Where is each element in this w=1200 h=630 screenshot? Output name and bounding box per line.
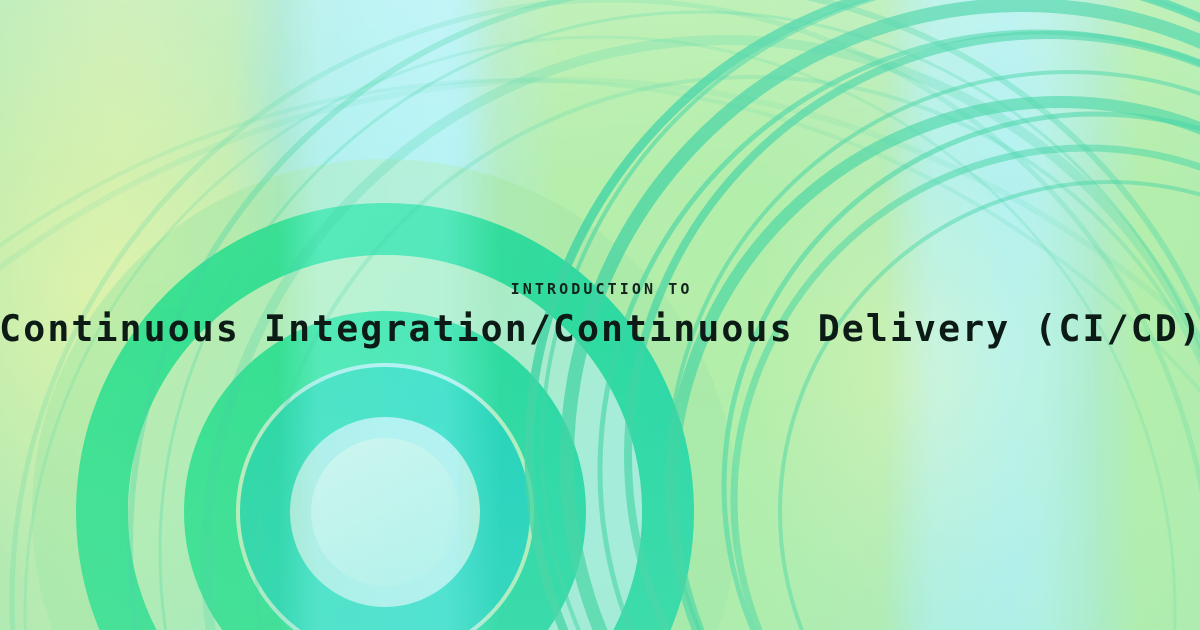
title-text-block: INTRODUCTION TO Continuous Integration/C… [0, 0, 1200, 630]
eyebrow-text: INTRODUCTION TO [507, 282, 692, 297]
page-title: Continuous Integration/Continuous Delive… [0, 309, 1200, 348]
title-card: INTRODUCTION TO Continuous Integration/C… [0, 0, 1200, 630]
